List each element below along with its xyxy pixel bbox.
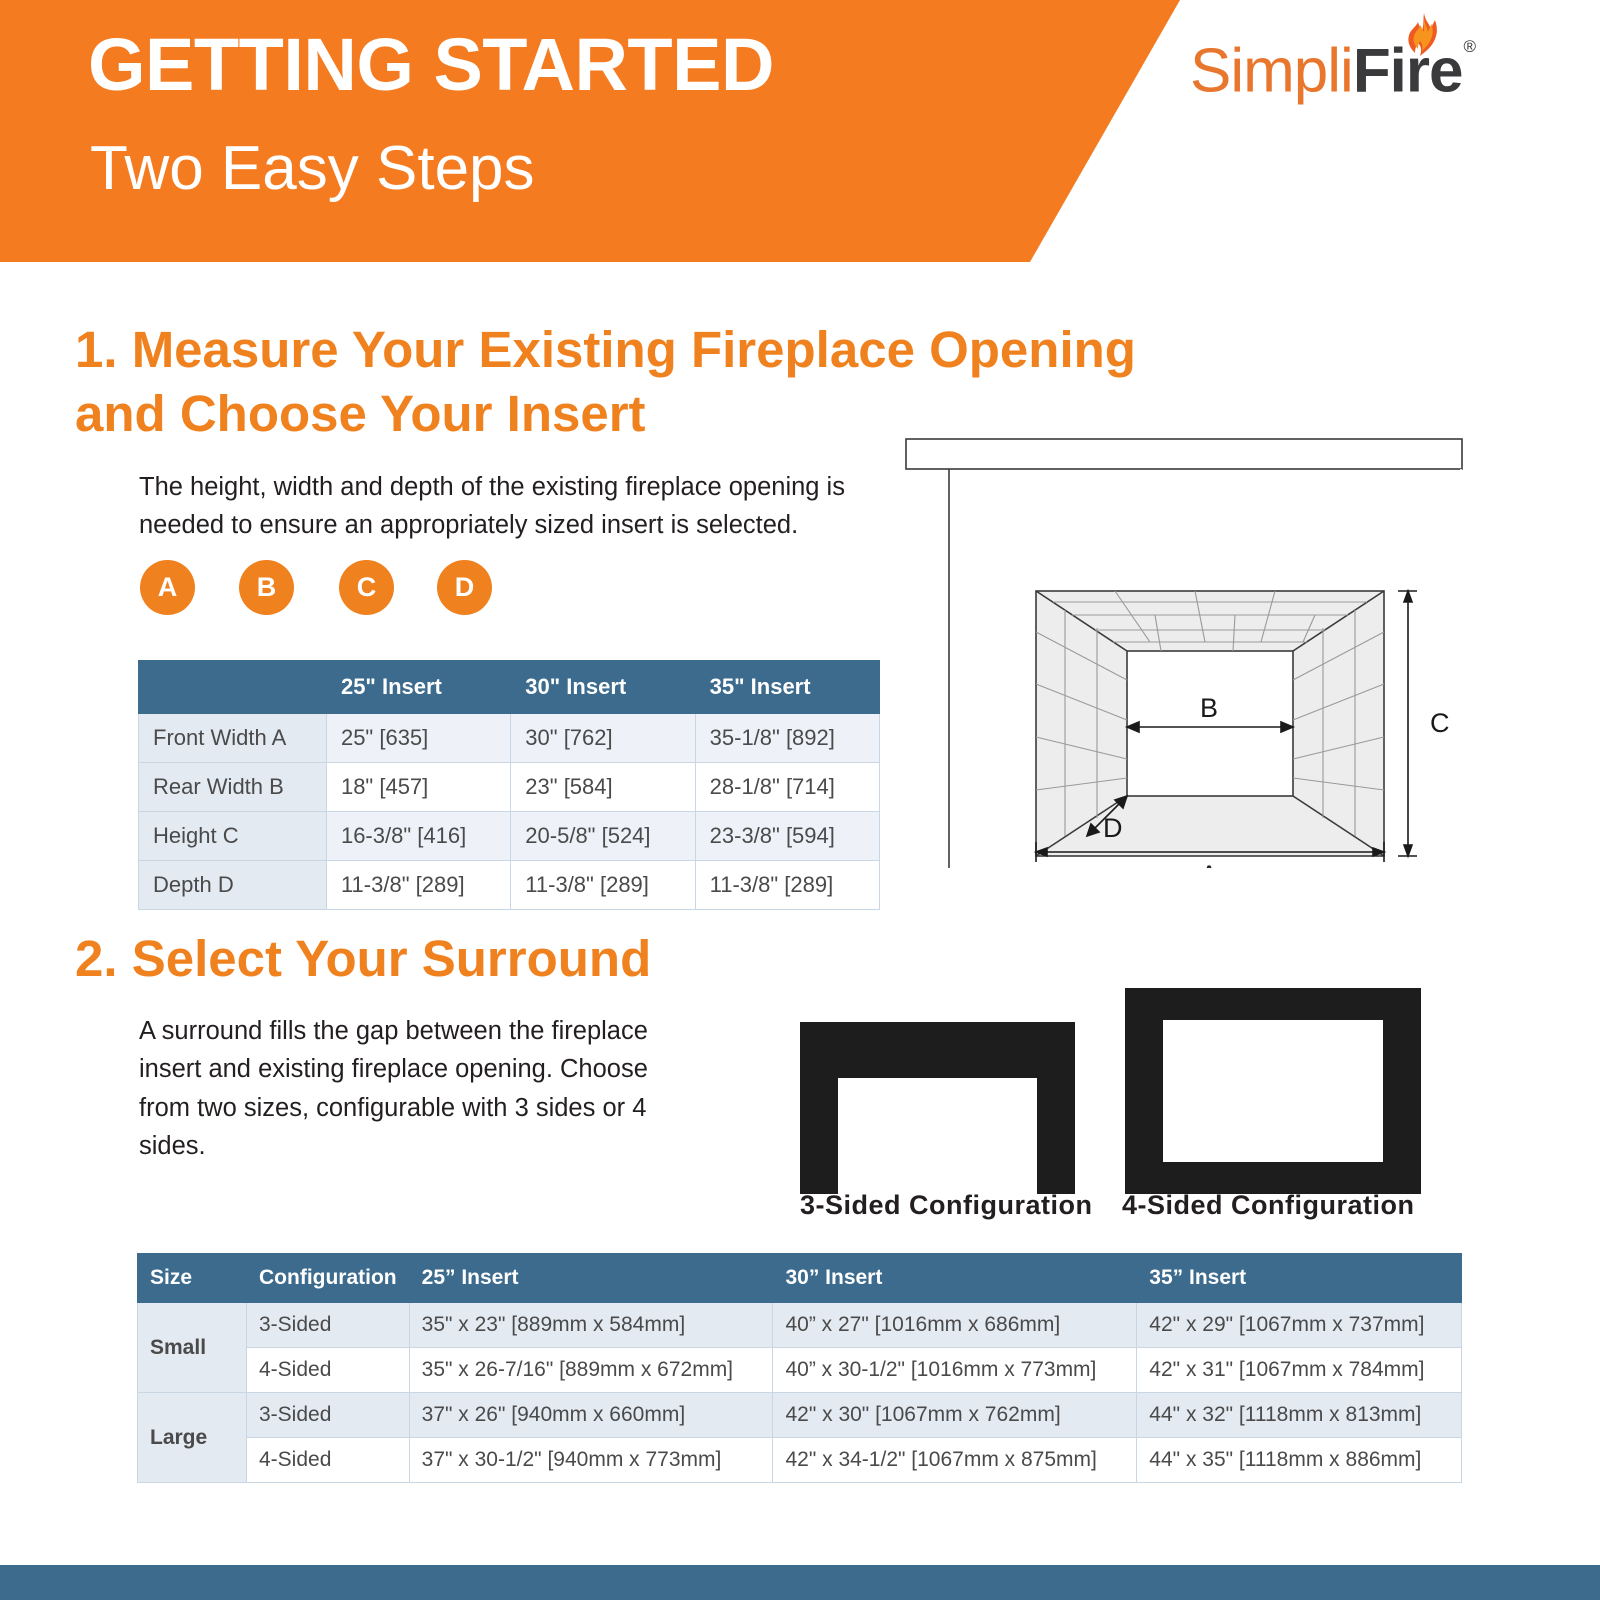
column-header-30-insert: 30" Insert bbox=[511, 661, 695, 714]
cell-large-3sided-25: 37" x 26" [940mm x 660mm] bbox=[409, 1393, 773, 1438]
page-root: GETTING STARTED Two Easy Steps SimpliFir… bbox=[0, 0, 1600, 1600]
table-row: Height C 16-3/8" [416] 20-5/8" [524] 23-… bbox=[139, 812, 880, 861]
column-header-30-insert: 30” Insert bbox=[773, 1254, 1137, 1303]
table-row: 4-Sided 35" x 26-7/16" [889mm x 672mm] 4… bbox=[138, 1348, 1462, 1393]
cell-rear-width-30: 23" [584] bbox=[511, 763, 695, 812]
table-row: Small 3-Sided 35" x 23" [889mm x 584mm] … bbox=[138, 1303, 1462, 1348]
caption-4-sided: 4-Sided Configuration bbox=[1122, 1190, 1414, 1221]
section-1-heading: 1. Measure Your Existing Fireplace Openi… bbox=[75, 318, 1355, 446]
cell-small-3sided-25: 35" x 23" [889mm x 584mm] bbox=[409, 1303, 773, 1348]
row-label-rear-width: Rear Width B bbox=[139, 763, 327, 812]
size-label-small: Small bbox=[138, 1303, 247, 1393]
surround-4-sided-opening bbox=[1163, 1020, 1383, 1162]
table-header-row: Size Configuration 25” Insert 30” Insert… bbox=[138, 1254, 1462, 1303]
table-row: Depth D 11-3/8" [289] 11-3/8" [289] 11-3… bbox=[139, 861, 880, 910]
config-small-4-sided: 4-Sided bbox=[247, 1348, 410, 1393]
brand-logo: SimpliFire® bbox=[1190, 34, 1475, 104]
size-label-large: Large bbox=[138, 1393, 247, 1483]
section-1-heading-line-1: 1. Measure Your Existing Fireplace Openi… bbox=[75, 318, 1355, 382]
table-row: Front Width A 25" [635] 30" [762] 35-1/8… bbox=[139, 714, 880, 763]
badge-b: B bbox=[239, 560, 294, 615]
section-2-heading: 2. Select Your Surround bbox=[75, 928, 651, 989]
cell-large-4sided-30: 42" x 34-1/2" [1067mm x 875mm] bbox=[773, 1438, 1137, 1483]
cell-small-3sided-35: 42" x 29" [1067mm x 737mm] bbox=[1137, 1303, 1462, 1348]
cell-small-4sided-35: 42" x 31" [1067mm x 784mm] bbox=[1137, 1348, 1462, 1393]
surround-sizes-table: Size Configuration 25” Insert 30” Insert… bbox=[137, 1253, 1462, 1483]
brand-logo-text: SimpliFire® bbox=[1190, 34, 1475, 103]
cell-front-width-25: 25" [635] bbox=[326, 714, 510, 763]
flame-icon bbox=[1404, 12, 1438, 58]
cell-rear-width-25: 18" [457] bbox=[326, 763, 510, 812]
fireplace-opening-diagram: C A B D bbox=[905, 432, 1465, 868]
cell-large-4sided-25: 37" x 30-1/2" [940mm x 773mm] bbox=[409, 1438, 773, 1483]
caption-3-sided: 3-Sided Configuration bbox=[800, 1190, 1092, 1221]
page-subtitle: Two Easy Steps bbox=[90, 138, 535, 200]
surround-3-sided bbox=[800, 1022, 1075, 1194]
column-header-35-insert: 35" Insert bbox=[695, 661, 879, 714]
cell-depth-35: 11-3/8" [289] bbox=[695, 861, 879, 910]
surround-images bbox=[780, 950, 1460, 1220]
dimension-badges: A B C D bbox=[140, 560, 560, 620]
brand-name-part1: Simpli bbox=[1190, 37, 1353, 106]
row-label-depth: Depth D bbox=[139, 861, 327, 910]
cell-rear-width-35: 28-1/8" [714] bbox=[695, 763, 879, 812]
diagram-label-d: D bbox=[1103, 813, 1123, 843]
insert-dimensions-table: 25" Insert 30" Insert 35" Insert Front W… bbox=[138, 660, 880, 910]
column-header-blank bbox=[139, 661, 327, 714]
config-large-3-sided: 3-Sided bbox=[247, 1393, 410, 1438]
row-label-front-width: Front Width A bbox=[139, 714, 327, 763]
cell-height-35: 23-3/8" [594] bbox=[695, 812, 879, 861]
registered-mark: ® bbox=[1464, 37, 1477, 56]
surround-4-sided bbox=[1125, 988, 1421, 1194]
diagram-label-a: A bbox=[1200, 860, 1218, 868]
badge-d: D bbox=[437, 560, 492, 615]
surround-3-sided-opening bbox=[838, 1078, 1037, 1194]
cell-large-3sided-35: 44" x 32" [1118mm x 813mm] bbox=[1137, 1393, 1462, 1438]
cell-height-30: 20-5/8" [524] bbox=[511, 812, 695, 861]
diagram-label-b: B bbox=[1200, 693, 1218, 723]
cell-small-4sided-30: 40” x 30-1/2" [1016mm x 773mm] bbox=[773, 1348, 1137, 1393]
cell-small-3sided-30: 40” x 27" [1016mm x 686mm] bbox=[773, 1303, 1137, 1348]
section-1-body-text: The height, width and depth of the exist… bbox=[139, 468, 899, 545]
badge-c: C bbox=[339, 560, 394, 615]
cell-front-width-35: 35-1/8" [892] bbox=[695, 714, 879, 763]
table-row: Large 3-Sided 37" x 26" [940mm x 660mm] … bbox=[138, 1393, 1462, 1438]
config-small-3-sided: 3-Sided bbox=[247, 1303, 410, 1348]
column-header-25-insert: 25” Insert bbox=[409, 1254, 773, 1303]
cell-small-4sided-25: 35" x 26-7/16" [889mm x 672mm] bbox=[409, 1348, 773, 1393]
cell-height-25: 16-3/8" [416] bbox=[326, 812, 510, 861]
cell-front-width-30: 30" [762] bbox=[511, 714, 695, 763]
section-2-body-text: A surround fills the gap between the fir… bbox=[139, 1012, 659, 1165]
page-title: GETTING STARTED bbox=[88, 28, 774, 102]
table-row: 4-Sided 37" x 30-1/2" [940mm x 773mm] 42… bbox=[138, 1438, 1462, 1483]
row-label-height: Height C bbox=[139, 812, 327, 861]
column-header-configuration: Configuration bbox=[247, 1254, 410, 1303]
column-header-25-insert: 25" Insert bbox=[326, 661, 510, 714]
column-header-35-insert: 35” Insert bbox=[1137, 1254, 1462, 1303]
column-header-size: Size bbox=[138, 1254, 247, 1303]
cell-large-3sided-30: 42" x 30" [1067mm x 762mm] bbox=[773, 1393, 1137, 1438]
diagram-label-c: C bbox=[1430, 708, 1450, 738]
cell-large-4sided-35: 44" x 35" [1118mm x 886mm] bbox=[1137, 1438, 1462, 1483]
badge-a: A bbox=[140, 560, 195, 615]
table-row: Rear Width B 18" [457] 23" [584] 28-1/8"… bbox=[139, 763, 880, 812]
footer-bar bbox=[0, 1565, 1600, 1600]
cell-depth-30: 11-3/8" [289] bbox=[511, 861, 695, 910]
config-large-4-sided: 4-Sided bbox=[247, 1438, 410, 1483]
table-header-row: 25" Insert 30" Insert 35" Insert bbox=[139, 661, 880, 714]
cell-depth-25: 11-3/8" [289] bbox=[326, 861, 510, 910]
